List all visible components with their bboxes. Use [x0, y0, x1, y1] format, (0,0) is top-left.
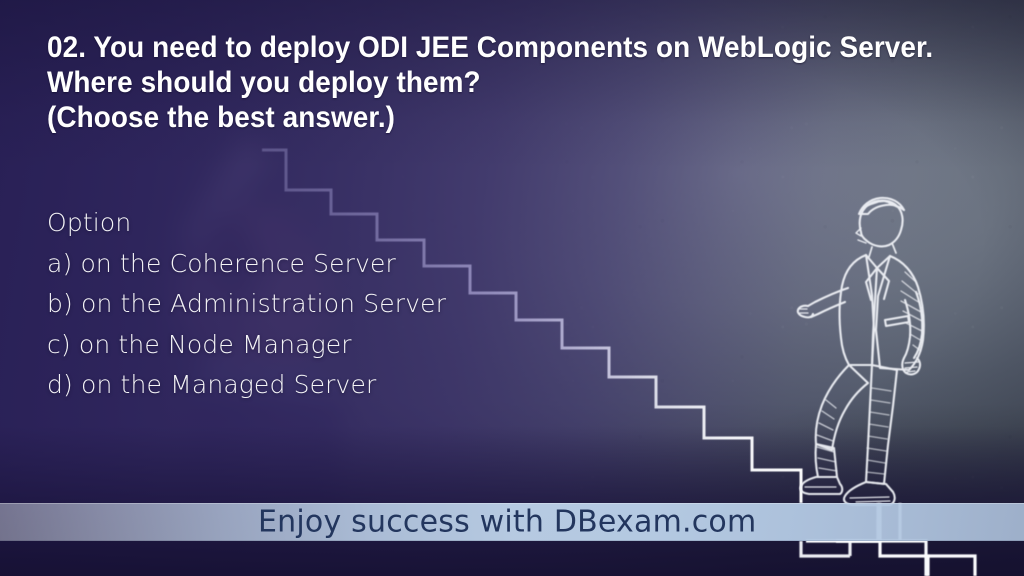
- option-item-a[interactable]: a) on the Coherence Server: [47, 244, 647, 285]
- option-item-d[interactable]: d) on the Managed Server: [47, 365, 647, 406]
- footer-brand-text: Enjoy success with DBexam.com: [258, 505, 756, 540]
- question-line-1: 02. You need to deploy ODI JEE Component…: [47, 30, 912, 65]
- options-block: Option a) on the Coherence Server b) on …: [47, 203, 647, 406]
- options-heading: Option: [47, 203, 647, 244]
- question-line-2: Where should you deploy them?: [47, 65, 912, 100]
- option-item-b[interactable]: b) on the Administration Server: [47, 284, 647, 325]
- question-block: 02. You need to deploy ODI JEE Component…: [47, 30, 977, 135]
- question-slide: 02. You need to deploy ODI JEE Component…: [0, 0, 1024, 576]
- bottom-shading: [0, 426, 1024, 576]
- footer-banner: Enjoy success with DBexam.com: [0, 503, 1024, 541]
- option-item-c[interactable]: c) on the Node Manager: [47, 325, 647, 366]
- question-line-3: (Choose the best answer.): [47, 100, 912, 135]
